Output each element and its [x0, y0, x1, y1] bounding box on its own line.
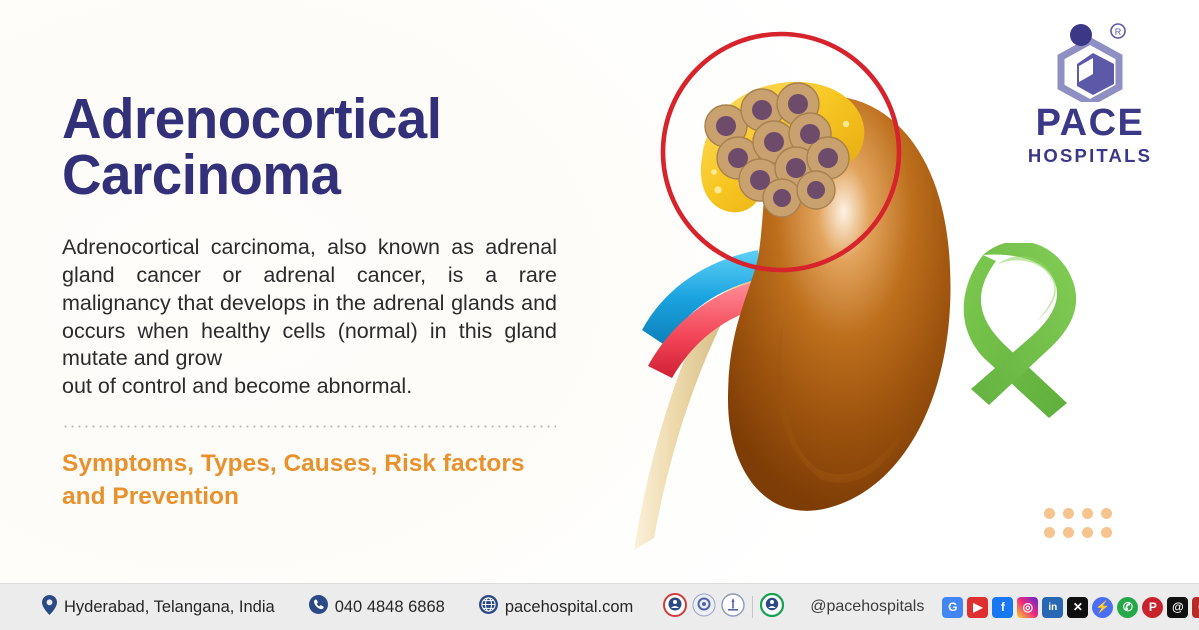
iso-badge [721, 593, 745, 622]
jci-badge [760, 593, 784, 622]
logo-mark-icon: R [1015, 22, 1165, 102]
logo-brand-text: PACE [1015, 104, 1165, 142]
nabl-badge [692, 593, 716, 622]
pace-hospitals-logo: R PACE HOSPITALS [1015, 22, 1165, 166]
description-paragraph: Adrenocortical carcinoma, also known as … [62, 235, 557, 371]
footer-website-label: pacehospital.com [505, 598, 633, 617]
location-pin-icon [42, 595, 57, 620]
accreditation-divider [752, 596, 753, 618]
footer-phone-label: 040 4848 6868 [335, 598, 445, 617]
phone-icon [309, 595, 328, 619]
logo-subbrand-text: HOSPITALS [1015, 147, 1165, 166]
svg-text:R: R [1115, 27, 1122, 37]
nabh-badge [663, 593, 687, 622]
facebook-icon[interactable]: f [992, 597, 1013, 618]
messenger-icon[interactable]: ⚡ [1092, 597, 1113, 618]
page-title: Adrenocortical Carcinoma [62, 92, 542, 204]
linkedin-icon[interactable]: in [1042, 597, 1063, 618]
footer-phone[interactable]: 040 4848 6868 [309, 595, 445, 619]
dotted-divider [62, 425, 556, 428]
quora-icon[interactable]: Q [1192, 597, 1199, 618]
google-business-icon[interactable]: G [942, 597, 963, 618]
instagram-icon[interactable]: ◎ [1017, 597, 1038, 618]
footer-location: Hyderabad, Telangana, India [42, 595, 275, 620]
footer-website[interactable]: pacehospital.com [479, 595, 633, 619]
x-twitter-icon[interactable]: ✕ [1067, 597, 1088, 618]
decorative-dot-grid [1044, 508, 1120, 546]
threads-icon[interactable]: @ [1167, 597, 1188, 618]
globe-icon [479, 595, 498, 619]
social-icon-row: G ▶ f ◎ in ✕ ⚡ ✆ P @ Q ♫ [942, 597, 1199, 618]
page-title-line-1: Adrenocortical [62, 87, 441, 151]
youtube-icon[interactable]: ▶ [967, 597, 988, 618]
kidney-illustration [606, 18, 986, 568]
page-title-line-2: Carcinoma [62, 148, 542, 204]
social-handle-label: @pacehospitals [810, 598, 924, 616]
footer-bar: Hyderabad, Telangana, India 040 4848 686… [0, 583, 1199, 630]
subtitle-topics: Symptoms, Types, Causes, Risk factors an… [62, 448, 562, 513]
infographic-canvas: Adrenocortical Carcinoma Adrenocortical … [0, 0, 1199, 630]
description-last-line: out of control and become abnormal. [62, 373, 557, 401]
description-text: Adrenocortical carcinoma, also known as … [62, 234, 557, 402]
footer-location-label: Hyderabad, Telangana, India [64, 598, 275, 617]
whatsapp-icon[interactable]: ✆ [1117, 597, 1138, 618]
content-column: Adrenocortical Carcinoma Adrenocortical … [62, 92, 562, 513]
awareness-ribbon-icon [963, 243, 1093, 418]
accreditation-badges [663, 593, 784, 622]
pinterest-icon[interactable]: P [1142, 597, 1163, 618]
